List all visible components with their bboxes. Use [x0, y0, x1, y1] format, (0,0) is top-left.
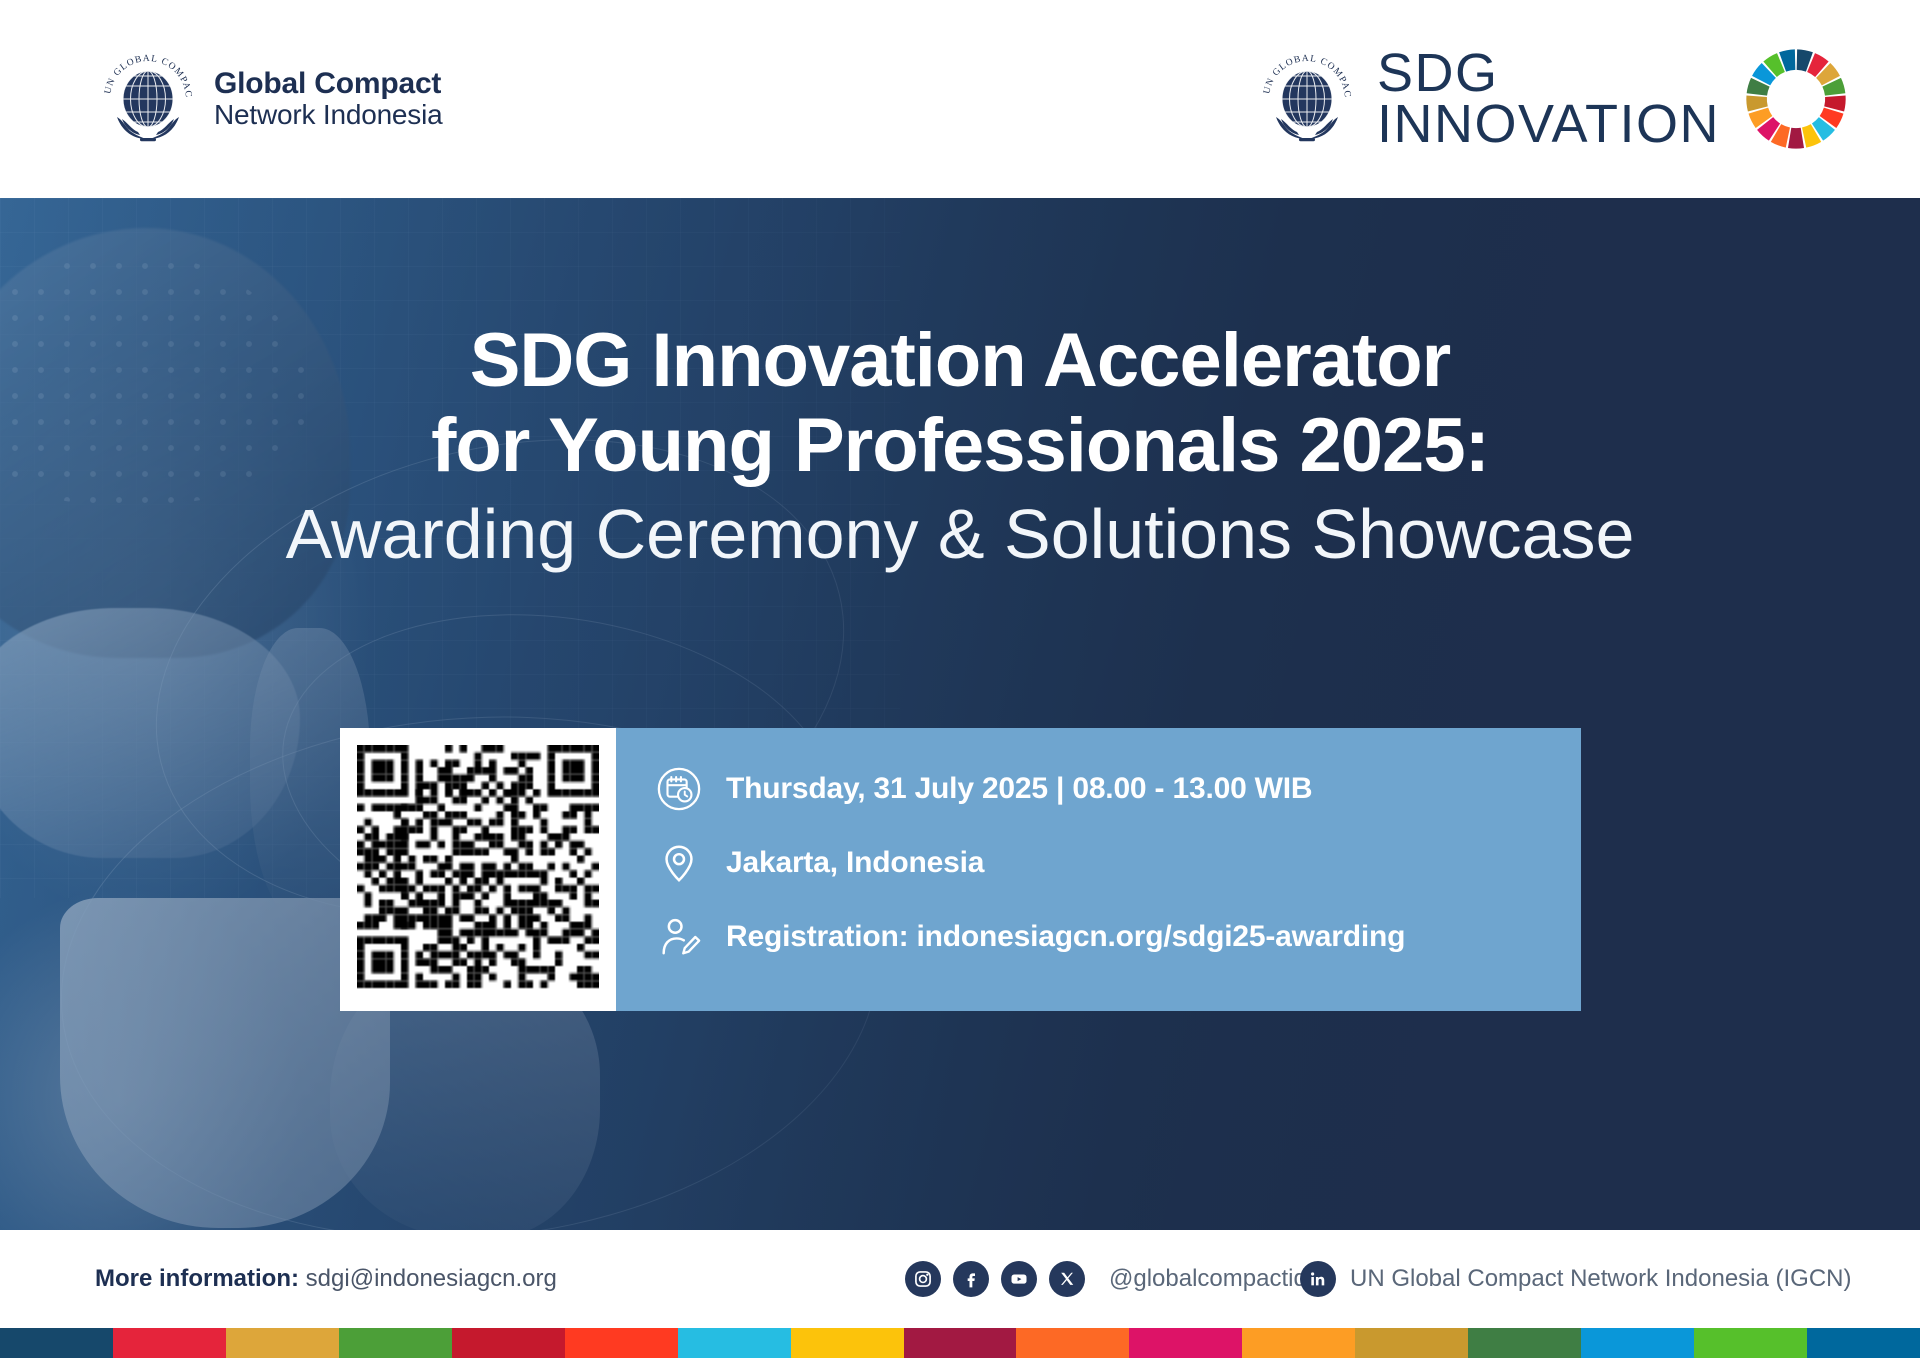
- logo-global-compact-network-indonesia: UN GLOBAL COMPACT: [100, 47, 443, 151]
- calendar-clock-icon: [656, 766, 702, 812]
- location-pin-icon: [656, 840, 702, 886]
- sdg-colour-segment-6: [565, 1328, 678, 1358]
- event-location-text: Jakarta, Indonesia: [726, 846, 984, 880]
- sdg-colour-segment-9: [904, 1328, 1017, 1358]
- sdg-colour-segment-2: [113, 1328, 226, 1358]
- event-detail-registration[interactable]: Registration: indonesiagcn.org/sdgi25-aw…: [656, 914, 1581, 960]
- un-global-compact-emblem-icon-right: UN GLOBAL COMPACT: [1259, 47, 1355, 151]
- linkedin-text[interactable]: UN Global Compact Network Indonesia (IGC…: [1350, 1265, 1852, 1293]
- event-title-line2: for Young Professionals 2025:: [0, 403, 1920, 488]
- qr-code-image[interactable]: [357, 745, 599, 994]
- event-title: SDG Innovation Accelerator for Young Pro…: [0, 318, 1920, 578]
- sdg-innovation-wordmark: SDG INNOVATION: [1377, 48, 1720, 150]
- event-detail-location: Jakarta, Indonesia: [656, 840, 1581, 886]
- sdg-colour-segment-14: [1468, 1328, 1581, 1358]
- sdg-colour-segment-1: [0, 1328, 113, 1358]
- page-footer: More information: sdgi@indonesiagcn.org: [0, 1230, 1920, 1328]
- more-information-email[interactable]: sdgi@indonesiagcn.org: [306, 1265, 557, 1292]
- sdg-colour-segment-7: [678, 1328, 791, 1358]
- linkedin-link[interactable]: UN Global Compact Network Indonesia (IGC…: [1300, 1261, 1852, 1297]
- sdg-colour-segment-11: [1129, 1328, 1242, 1358]
- qr-code-box[interactable]: [340, 728, 616, 1011]
- event-registration-text[interactable]: Registration: indonesiagcn.org/sdgi25-aw…: [726, 920, 1405, 954]
- hero-banner: SDG Innovation Accelerator for Young Pro…: [0, 198, 1920, 1230]
- sdg-colour-segment-3: [226, 1328, 339, 1358]
- youtube-icon[interactable]: [1001, 1261, 1037, 1297]
- register-person-icon: [656, 914, 702, 960]
- un-global-compact-emblem-icon: UN GLOBAL COMPACT: [100, 47, 196, 151]
- linkedin-icon[interactable]: [1300, 1261, 1336, 1297]
- gcn-wordmark-line1: Global Compact: [214, 68, 443, 100]
- sdg-colour-bar: [0, 1328, 1920, 1358]
- sdg-colour-segment-4: [339, 1328, 452, 1358]
- sdg-colour-segment-10: [1016, 1328, 1129, 1358]
- sdg-colour-segment-17: [1807, 1328, 1920, 1358]
- event-details-panel: Thursday, 31 July 2025 | 08.00 - 13.00 W…: [616, 728, 1581, 1011]
- more-information: More information: sdgi@indonesiagcn.org: [95, 1265, 557, 1293]
- facebook-icon[interactable]: [953, 1261, 989, 1297]
- event-title-line1: SDG Innovation Accelerator: [0, 318, 1920, 403]
- sdg-colour-segment-15: [1581, 1328, 1694, 1358]
- sdg-colour-segment-13: [1355, 1328, 1468, 1358]
- event-details-strip: Thursday, 31 July 2025 | 08.00 - 13.00 W…: [340, 728, 1581, 1011]
- sdg-colour-segment-8: [791, 1328, 904, 1358]
- sdg-colour-segment-5: [452, 1328, 565, 1358]
- page-header: UN GLOBAL COMPACT: [0, 0, 1920, 198]
- sdg-innovation-line1: SDG: [1377, 48, 1720, 99]
- sdg-colour-segment-16: [1694, 1328, 1807, 1358]
- event-date-text: Thursday, 31 July 2025 | 08.00 - 13.00 W…: [726, 772, 1312, 806]
- x-twitter-icon[interactable]: [1049, 1261, 1085, 1297]
- more-information-label: More information:: [95, 1265, 299, 1292]
- sdg-wheel-segment-9: [1788, 128, 1804, 149]
- social-links: @globalcompactid: [905, 1261, 1307, 1297]
- instagram-icon[interactable]: [905, 1261, 941, 1297]
- social-handle[interactable]: @globalcompactid: [1109, 1265, 1307, 1293]
- gcn-wordmark: Global Compact Network Indonesia: [214, 68, 443, 131]
- event-title-line3: Awarding Ceremony & Solutions Showcase: [0, 492, 1920, 577]
- sdg-colour-segment-12: [1242, 1328, 1355, 1358]
- event-detail-date: Thursday, 31 July 2025 | 08.00 - 13.00 W…: [656, 766, 1581, 812]
- sdg-innovation-line2: INNOVATION: [1377, 99, 1720, 150]
- logo-sdg-innovation: UN GLOBAL COMPACT: [1259, 45, 1850, 153]
- gcn-wordmark-line2: Network Indonesia: [214, 100, 443, 130]
- sdg-colour-wheel-icon: [1742, 45, 1850, 153]
